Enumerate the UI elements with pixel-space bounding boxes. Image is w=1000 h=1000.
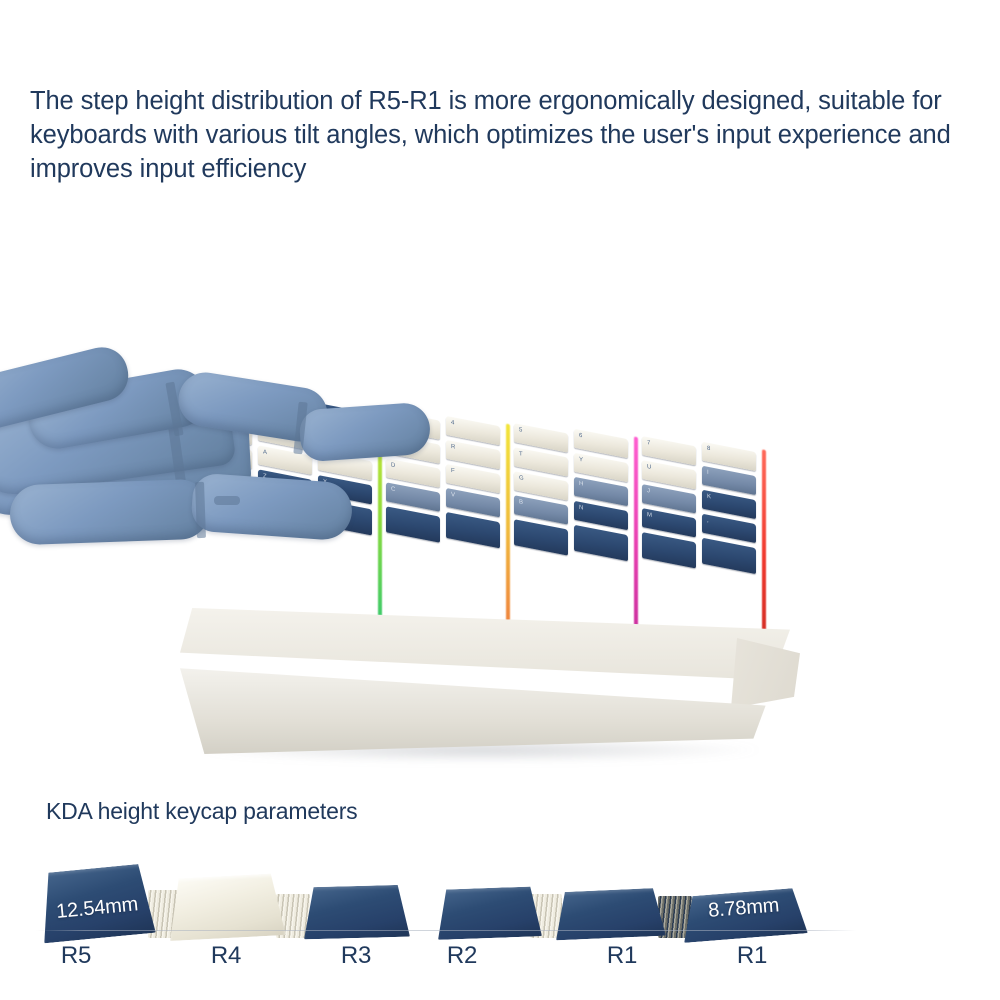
keycap-body	[554, 888, 666, 941]
profile-baseline	[36, 930, 856, 931]
row-label-r3-2: R3	[326, 942, 386, 970]
keycap-legend: J	[647, 488, 650, 495]
keycap-body	[436, 886, 542, 940]
keycap-legend: ,	[707, 518, 709, 524]
keycap-profile-r3-2	[303, 885, 410, 940]
keycap-profile-r2-3	[436, 886, 542, 940]
keycap-profile-r1-5: 8.78mm	[681, 887, 808, 943]
keycap-legend: M	[647, 512, 652, 519]
keycap	[702, 538, 756, 574]
robot-finger-upper-distal	[298, 402, 431, 463]
robot-finger-lower-distal	[190, 472, 354, 541]
robot-knuckle-seam	[195, 482, 206, 538]
row-label-r1-5: R1	[722, 942, 782, 970]
keycap-profile-r1-4	[554, 888, 666, 941]
keycap-legend: K	[707, 494, 711, 501]
keycap-legend: U	[647, 464, 651, 471]
robotic-hand	[0, 230, 620, 630]
headline-text: The step height distribution of R5-R1 is…	[30, 84, 978, 186]
keycap-body	[303, 885, 410, 940]
keycap-height-profile: 12.54mm8.78mm	[0, 852, 1000, 938]
keycap-profile-r5-0: 12.54mm	[38, 863, 156, 943]
keycap-legend: 7	[647, 440, 650, 447]
keycap	[642, 532, 696, 568]
robot-finger-lower-proximal	[9, 479, 211, 546]
row-label-r4-1: R4	[196, 942, 256, 970]
row-label-r2-3: R2	[432, 942, 492, 970]
section-title: KDA height keycap parameters	[46, 798, 357, 825]
row-label-r5-0: R5	[46, 942, 106, 970]
hero-render-keyboard-with-robotic-hand: ~ Tab Cap Shift Ctrl 1 Q A Z Win 2 W S X…	[0, 230, 1000, 790]
keycap-legend: 8	[707, 446, 710, 453]
product-feature-page: The step height distribution of R5-R1 is…	[0, 0, 1000, 1000]
keycap-legend: I	[707, 470, 709, 476]
robot-fingertip-detail	[214, 496, 240, 505]
row-label-r1-4: R1	[592, 942, 652, 970]
